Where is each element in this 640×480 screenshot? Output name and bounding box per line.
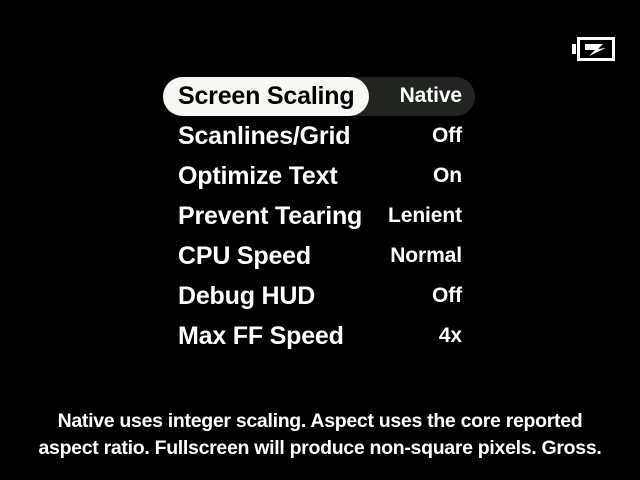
menu-row-value[interactable]: Native [400, 76, 462, 116]
menu-row-label: Optimize Text [178, 156, 337, 196]
menu-row-value[interactable]: Off [432, 276, 462, 316]
menu-row-value[interactable]: On [433, 156, 462, 196]
menu-row-max-ff-speed[interactable]: Max FF Speed 4x [0, 316, 640, 356]
menu-row-optimize-text[interactable]: Optimize Text On [0, 156, 640, 196]
menu-row-prevent-tearing[interactable]: Prevent Tearing Lenient [0, 196, 640, 236]
menu-row-label: Max FF Speed [178, 316, 344, 356]
help-line-1: Native uses integer scaling. Aspect uses… [0, 408, 640, 435]
menu-row-label: Debug HUD [178, 276, 315, 316]
menu-row-label: CPU Speed [178, 236, 311, 276]
menu-row-value[interactable]: Normal [390, 236, 462, 276]
menu-row-debug-hud[interactable]: Debug HUD Off [0, 276, 640, 316]
menu-row-label: Prevent Tearing [178, 196, 362, 236]
help-description: Native uses integer scaling. Aspect uses… [0, 408, 640, 462]
help-line-2: aspect ratio. Fullscreen will produce no… [0, 435, 640, 462]
menu-row-value[interactable]: 4x [439, 316, 462, 356]
menu-row-label: Screen Scaling [178, 76, 354, 116]
battery-charging-icon [572, 36, 616, 62]
menu-row-value[interactable]: Lenient [388, 196, 462, 236]
status-bar [0, 0, 640, 78]
menu-row-value[interactable]: Off [432, 116, 462, 156]
menu-row-label: Scanlines/Grid [178, 116, 350, 156]
settings-screen: Screen Scaling Native Scanlines/Grid Off… [0, 0, 640, 480]
menu-row-scanlines-grid[interactable]: Scanlines/Grid Off [0, 116, 640, 156]
menu-row-cpu-speed[interactable]: CPU Speed Normal [0, 236, 640, 276]
settings-menu-list: Screen Scaling Native Scanlines/Grid Off… [0, 76, 640, 356]
menu-row-screen-scaling[interactable]: Screen Scaling Native [0, 76, 640, 116]
